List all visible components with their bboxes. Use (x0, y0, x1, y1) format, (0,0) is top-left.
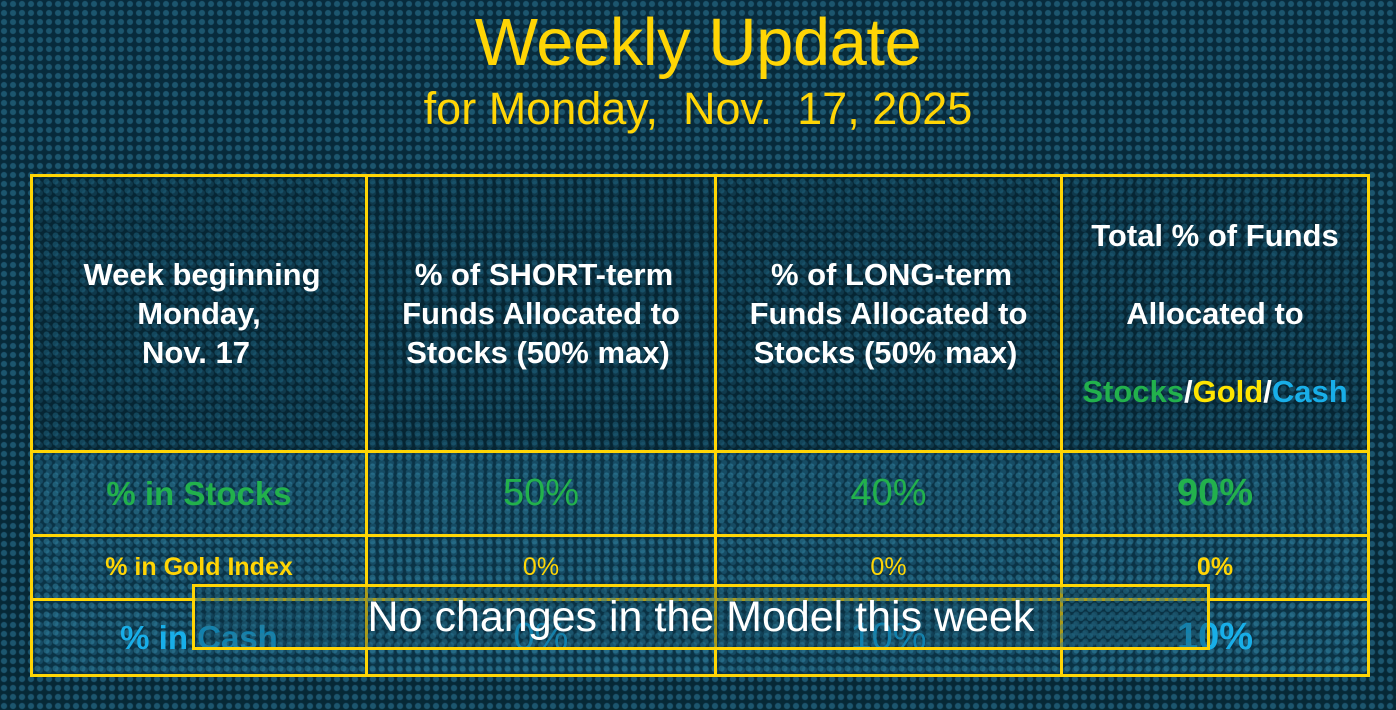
value-gold-long-term: 0% (870, 553, 906, 581)
legend-slash-2: / (1263, 374, 1272, 409)
legend-stocks: Stocks (1082, 374, 1184, 409)
header-week-beginning: Week beginning Monday, Nov. 17 (77, 257, 320, 370)
legend-slash-1: / (1184, 374, 1193, 409)
value-gold-total: 0% (1197, 553, 1233, 581)
value-gold-short-term: 0% (523, 553, 559, 581)
value-stocks-total: 90% (1177, 472, 1253, 514)
header-total-legend: Stocks/Gold/Cash (1063, 372, 1367, 411)
row-label-stocks: % in Stocks (106, 475, 291, 512)
table-row: % in Stocks 50% 40% 90% (32, 452, 1369, 536)
header-cell-long-term: % of LONG-term Funds Allocated to Stocks… (716, 176, 1062, 452)
cell-stocks-total: 90% (1062, 452, 1369, 536)
header-total: Total % of Funds Allocated to Stocks/Gol… (1063, 179, 1367, 448)
header-total-line2: Allocated to (1063, 294, 1367, 333)
header-long-term: % of LONG-term Funds Allocated to Stocks… (750, 257, 1028, 370)
row-label-stocks-cell: % in Stocks (32, 452, 367, 536)
value-stocks-long-term: 40% (850, 472, 926, 514)
header-total-line1: Total % of Funds (1063, 216, 1367, 255)
legend-gold: Gold (1193, 374, 1264, 409)
value-stocks-short-term: 50% (503, 472, 579, 514)
page-title: Weekly Update (0, 4, 1396, 82)
legend-cash: Cash (1272, 374, 1348, 409)
weekly-update-slide: Weekly Update for Monday, Nov. 17, 2025 … (0, 0, 1396, 710)
header-short-term: % of SHORT-term Funds Allocated to Stock… (402, 257, 680, 370)
cell-stocks-long-term: 40% (716, 452, 1062, 536)
footer-note-box: No changes in the Model this week (192, 584, 1210, 650)
header-cell-week: Week beginning Monday, Nov. 17 (32, 176, 367, 452)
cell-stocks-short-term: 50% (367, 452, 716, 536)
footer-note-text: No changes in the Model this week (368, 593, 1035, 641)
header-cell-short-term: % of SHORT-term Funds Allocated to Stock… (367, 176, 716, 452)
page-subtitle: for Monday, Nov. 17, 2025 (0, 82, 1396, 136)
row-label-gold: % in Gold Index (105, 553, 293, 581)
header-cell-total: Total % of Funds Allocated to Stocks/Gol… (1062, 176, 1369, 452)
table-header-row: Week beginning Monday, Nov. 17 % of SHOR… (32, 176, 1369, 452)
title-block: Weekly Update for Monday, Nov. 17, 2025 (0, 4, 1396, 136)
